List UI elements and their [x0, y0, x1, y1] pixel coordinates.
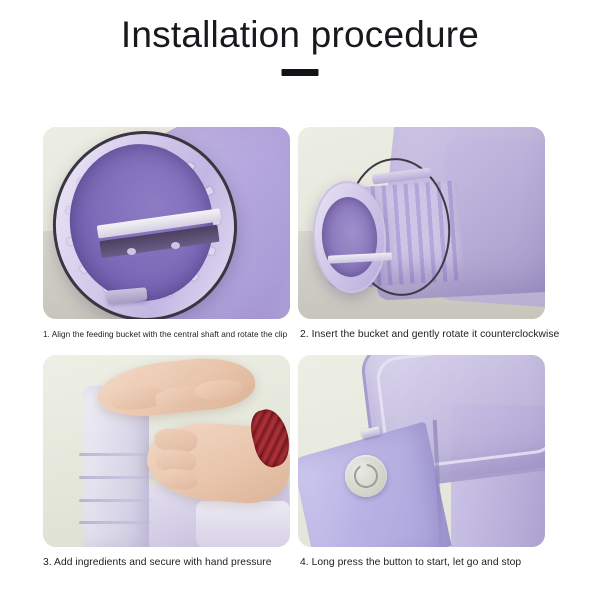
- step-card-3: 3. Add ingredients and secure with hand …: [43, 355, 290, 570]
- page-header: Installation procedure: [0, 0, 600, 105]
- title-divider: [282, 69, 319, 76]
- page-title: Installation procedure: [0, 10, 600, 60]
- step-4-photo: [298, 355, 545, 547]
- step-4-caption: 4. Long press the button to start, let g…: [300, 556, 545, 570]
- step-1-photo: [43, 127, 290, 319]
- step-2-photo: [298, 127, 545, 319]
- step-2-caption: 2. Insert the bucket and gently rotate i…: [300, 328, 545, 342]
- bucket-interior: [319, 195, 380, 278]
- step-3-caption: 3. Add ingredients and secure with hand …: [43, 556, 290, 570]
- power-icon: [352, 461, 381, 490]
- step-card-4: 4. Long press the button to start, let g…: [298, 355, 545, 570]
- appliance-base: [196, 501, 290, 547]
- step-card-1: 1. Align the feeding bucket with the cen…: [43, 127, 290, 342]
- steps-grid: 1. Align the feeding bucket with the cen…: [0, 122, 600, 592]
- step-card-2: 2. Insert the bucket and gently rotate i…: [298, 127, 545, 342]
- step-3-photo: [43, 355, 290, 547]
- step-1-caption: 1. Align the feeding bucket with the cen…: [43, 328, 290, 342]
- bucket-rivet: [127, 248, 136, 255]
